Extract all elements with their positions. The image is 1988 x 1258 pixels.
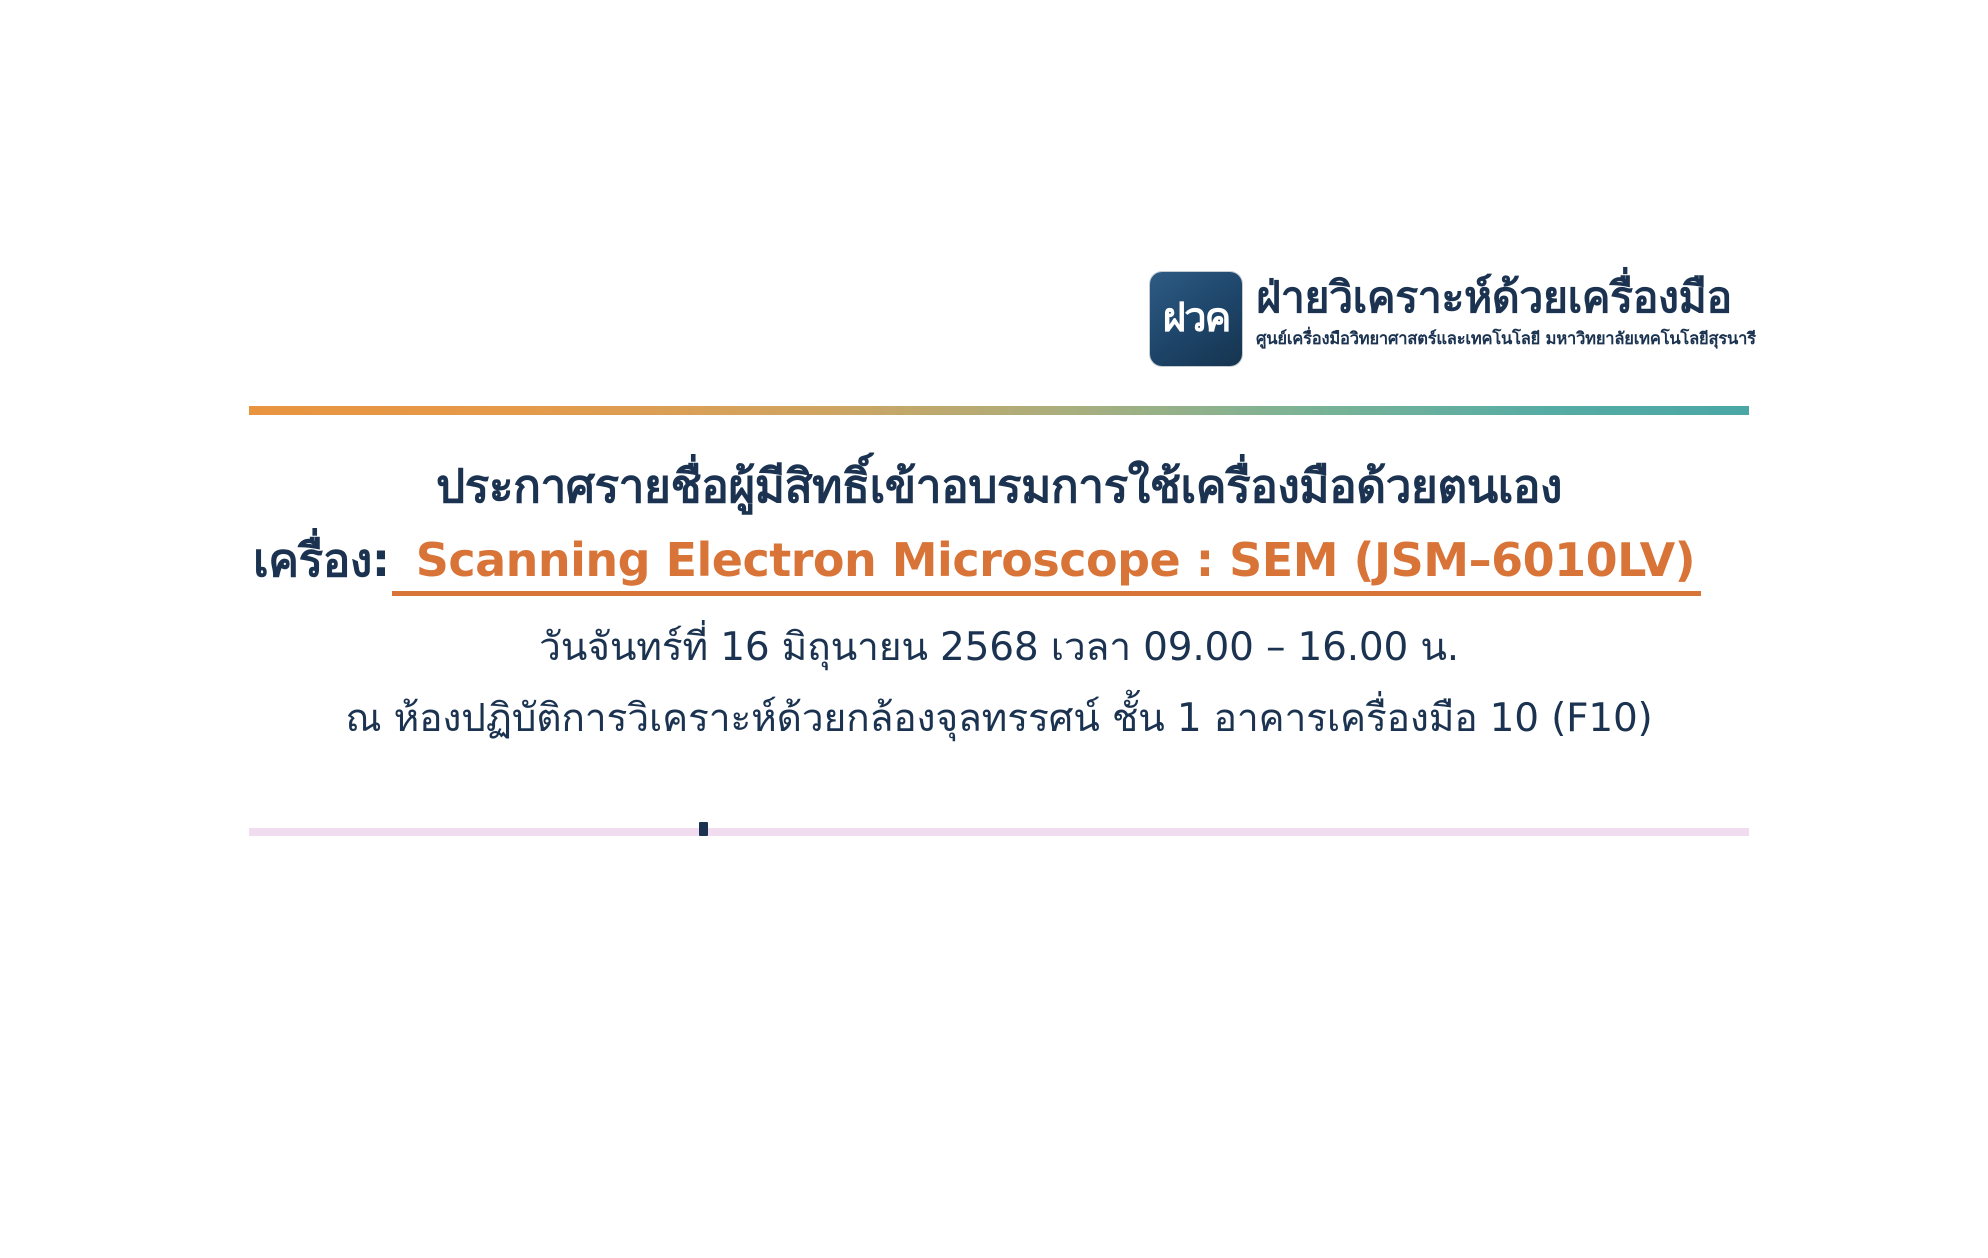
organization-title: ฝ่ายวิเคราะห์ด้วยเครื่องมือ bbox=[1256, 274, 1756, 322]
announcement-content: ประกาศรายชื่อผู้มีสิทธิ์เข้าอบรมการใช้เค… bbox=[249, 452, 1749, 739]
swrd-logo-icon: ฝวค bbox=[1150, 272, 1242, 366]
organization-text: ฝ่ายวิเคราะห์ด้วยเครื่องมือ ศูนย์เครื่อง… bbox=[1256, 272, 1756, 349]
date-line: วันจันทร์ที่ 16 มิถุนายน 2568 เวลา 09.00… bbox=[249, 628, 1749, 669]
machine-row: เครื่อง: Scanning Electron Microscope : … bbox=[249, 536, 1749, 595]
divider-top bbox=[249, 406, 1749, 415]
page-title: ประกาศรายชื่อผู้มีสิทธิ์เข้าอบรมการใช้เค… bbox=[249, 462, 1749, 510]
organization-logo-block: ฝวค ฝ่ายวิเคราะห์ด้วยเครื่องมือ ศูนย์เคร… bbox=[1150, 272, 1756, 366]
divider-dot bbox=[699, 822, 708, 836]
machine-value: Scanning Electron Microscope : SEM (JSM–… bbox=[392, 536, 1702, 595]
announcement-page: ฝวค ฝ่ายวิเคราะห์ด้วยเครื่องมือ ศูนย์เคร… bbox=[0, 0, 1988, 1258]
place-line: ณ ห้องปฏิบัติการวิเคราะห์ด้วยกล้องจุลทรร… bbox=[249, 699, 1749, 740]
logo-glyph: ฝวค bbox=[1150, 272, 1242, 366]
divider-bottom bbox=[249, 828, 1749, 836]
machine-label: เครื่อง: bbox=[253, 536, 390, 584]
organization-subtitle: ศูนย์เครื่องมือวิทยาศาสตร์และเทคโนโลยี ม… bbox=[1256, 329, 1756, 349]
